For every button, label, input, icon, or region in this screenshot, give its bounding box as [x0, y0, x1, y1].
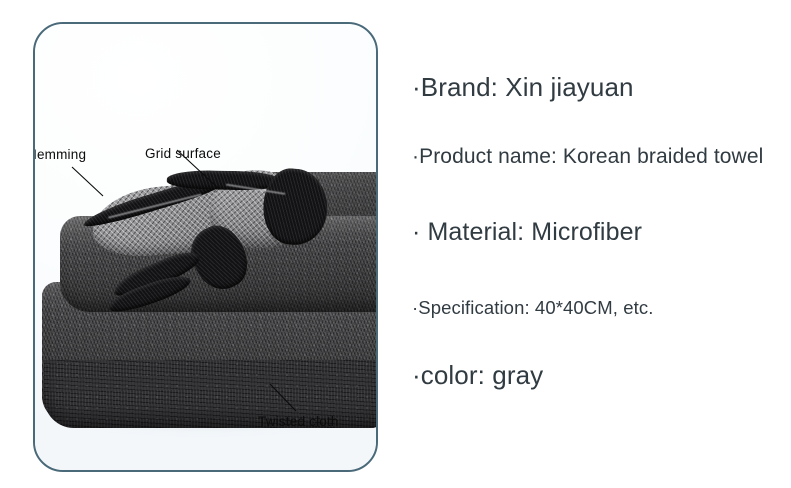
leader-twisted-cloth: [270, 384, 296, 411]
spec-product-name: ·Product name: Korean braided towel: [412, 145, 763, 169]
product-spec-list: ·Brand: Xin jiayuan ·Product name: Korea…: [408, 0, 791, 488]
annotation-leader-lines: [35, 24, 376, 470]
spec-brand: ·Brand: Xin jiayuan: [412, 72, 634, 103]
leader-hemming: [72, 167, 103, 196]
spec-material: · Material: Microfiber: [412, 218, 642, 247]
product-photo-frame: Hemming Grid surface Twisted cloth: [33, 22, 378, 472]
spec-specification: ·Specification: 40*40CM, etc.: [412, 297, 653, 319]
annotation-hemming: Hemming: [35, 147, 86, 162]
product-detail-page: Hemming Grid surface Twisted cloth ·Bran…: [0, 0, 791, 488]
annotation-twisted-cloth: Twisted cloth: [258, 414, 339, 429]
product-photo: Hemming Grid surface Twisted cloth: [35, 24, 376, 470]
spec-color: ·color: gray: [412, 360, 543, 391]
annotation-grid-surface: Grid surface: [145, 146, 221, 161]
